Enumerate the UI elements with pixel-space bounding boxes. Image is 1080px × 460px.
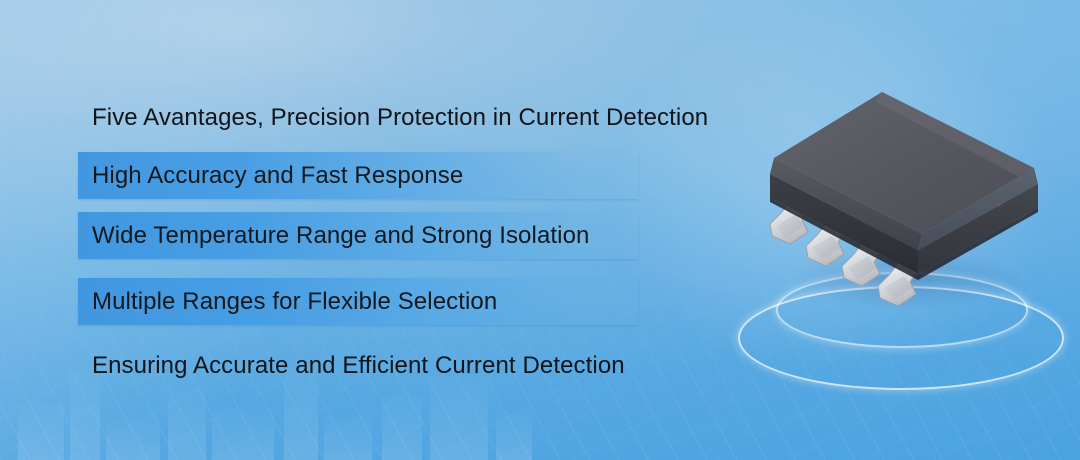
feature-label: Multiple Ranges for Flexible Selection [92,288,497,316]
footline-row: Ensuring Accurate and Efficient Current … [0,342,700,389]
headline-text: Five Avantages, Precision Protection in … [92,104,708,132]
feature-row-2[interactable]: Wide Temperature Range and Strong Isolat… [0,212,700,259]
feature-row-1[interactable]: High Accuracy and Fast Response [0,152,700,199]
headline-row: Five Avantages, Precision Protection in … [0,94,700,141]
feature-label: Wide Temperature Range and Strong Isolat… [92,222,589,250]
feature-row-3[interactable]: Multiple Ranges for Flexible Selection [0,278,700,325]
soic-8-ic-package-icon [750,84,1050,314]
footline-text: Ensuring Accurate and Efficient Current … [92,352,625,380]
product-feature-banner: Five Avantages, Precision Protection in … [0,0,1080,460]
feature-label: High Accuracy and Fast Response [92,162,463,190]
product-graphic [730,78,1070,408]
feature-list: Five Avantages, Precision Protection in … [0,0,720,460]
